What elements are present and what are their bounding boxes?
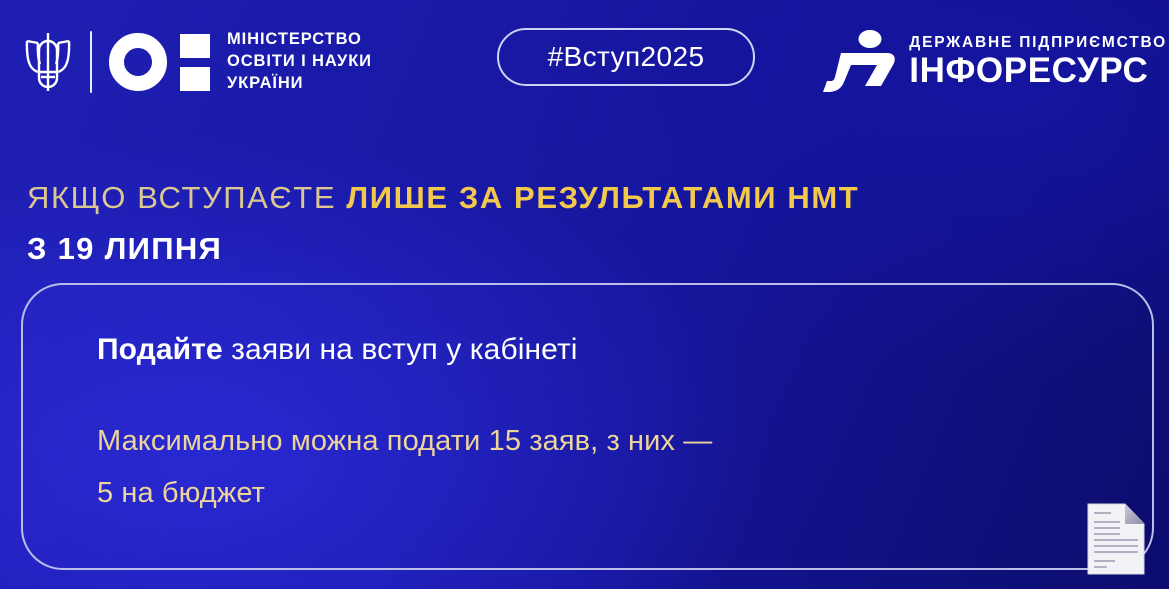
ministry-name-line-3: УКРАЇНИ: [227, 74, 303, 92]
partner-name-line-2: ІНФОРЕСУРС: [909, 53, 1167, 88]
headline-bold-part: ЛИШЕ ЗА РЕЗУЛЬТАТАМИ НМТ: [346, 180, 859, 215]
document-page-icon: [1087, 503, 1145, 575]
banner-header: МІНІСТЕРСТВО ОСВІТИ І НАУКИ УКРАЇНИ #Вст…: [0, 0, 1169, 126]
hashtag-label: #Вступ2025: [548, 41, 705, 73]
card-note-line-1: Максимально можна подати 15 заяв, з них …: [97, 425, 712, 457]
mon-ring-squares-icon: [109, 33, 210, 91]
ministry-name-line-2: ОСВІТИ І НАУКИ: [227, 52, 372, 70]
ukraine-trident-icon: [22, 29, 74, 95]
card-note: Максимально можна подати 15 заяв, з них …: [97, 416, 712, 519]
inforesurs-mark-icon: [823, 28, 901, 94]
ministry-name-line-1: МІНІСТЕРСТВО: [227, 30, 362, 48]
mon-square-bottom: [180, 67, 210, 91]
promo-banner: МІНІСТЕРСТВО ОСВІТИ І НАУКИ УКРАЇНИ #Вст…: [0, 0, 1169, 589]
ministry-name: МІНІСТЕРСТВО ОСВІТИ І НАУКИ УКРАЇНИ: [227, 29, 372, 95]
card-instruction: Подайте заяви на вступ у кабінеті: [97, 333, 578, 367]
headline-primary: ЯКЩО ВСТУПАЄТЕ ЛИШЕ ЗА РЕЗУЛЬТАТАМИ НМТ: [27, 182, 1147, 213]
hashtag-badge: #Вступ2025: [497, 28, 755, 86]
partner-name: ДЕРЖАВНЕ ПІДПРИЄМСТВО ІНФОРЕСУРС: [909, 34, 1167, 88]
info-card: Подайте заяви на вступ у кабінеті Максим…: [21, 283, 1154, 570]
mon-square-top: [180, 34, 210, 58]
headline-date: З 19 ЛИПНЯ: [27, 233, 1147, 264]
logo-divider: [90, 31, 92, 93]
ministry-logo-block: МІНІСТЕРСТВО ОСВІТИ І НАУКИ УКРАЇНИ: [22, 18, 372, 106]
card-instruction-rest: заяви на вступ у кабінеті: [223, 333, 578, 366]
partner-name-line-1: ДЕРЖАВНЕ ПІДПРИЄМСТВО: [909, 34, 1167, 52]
headline-block: ЯКЩО ВСТУПАЄТЕ ЛИШЕ ЗА РЕЗУЛЬТАТАМИ НМТ …: [27, 182, 1147, 264]
mon-ring-shape: [109, 33, 167, 91]
mon-squares-shape: [180, 34, 210, 91]
card-note-line-2: 5 на бюджет: [97, 477, 265, 509]
partner-logo-block: ДЕРЖАВНЕ ПІДПРИЄМСТВО ІНФОРЕСУРС: [823, 24, 1167, 98]
card-instruction-emphasis: Подайте: [97, 333, 223, 366]
headline-light-part: ЯКЩО ВСТУПАЄТЕ: [27, 180, 346, 215]
